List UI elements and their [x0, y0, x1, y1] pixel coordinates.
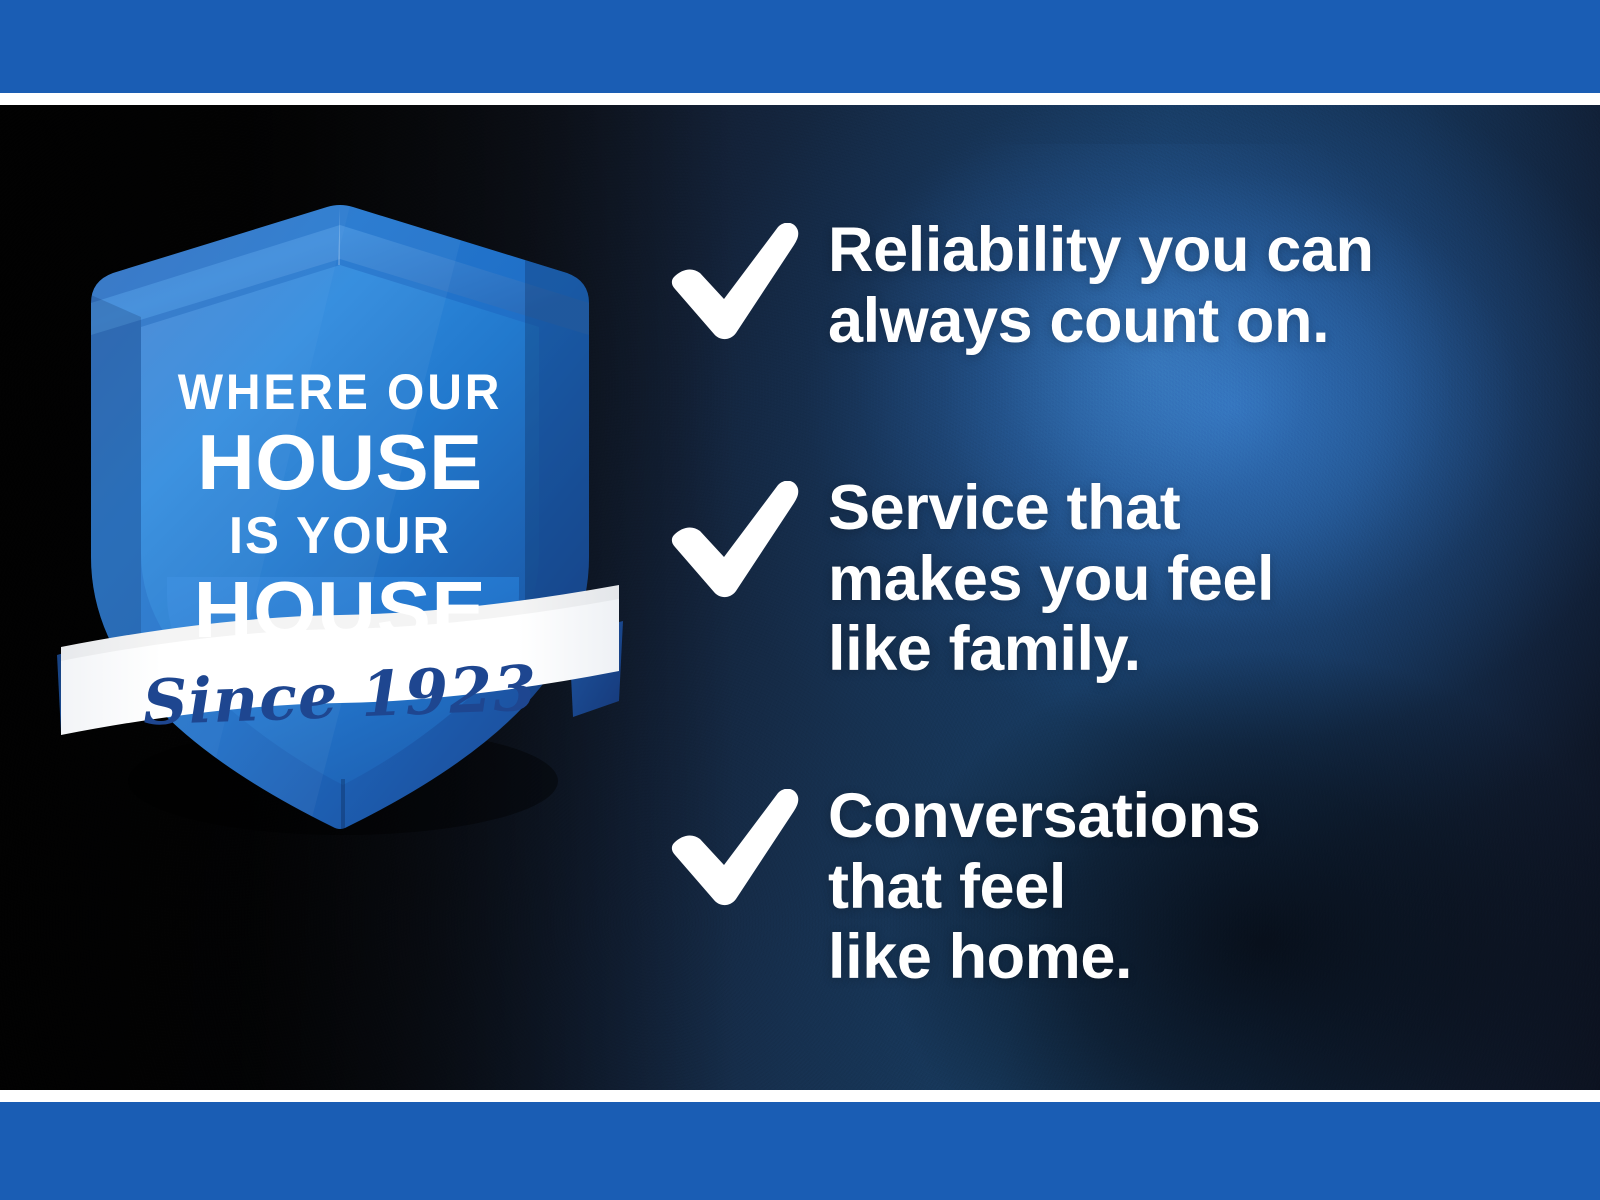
- benefit-item-2: Service that makes you feel like family.: [668, 473, 1548, 685]
- benefit-item-3: Conversations that feel like home.: [668, 781, 1548, 993]
- checkmark-icon: [668, 223, 800, 341]
- benefit-text-1: Reliability you can always count on.: [828, 215, 1548, 356]
- benefit-item-1: Reliability you can always count on.: [668, 215, 1548, 356]
- top-brand-bar: [0, 0, 1600, 93]
- bottom-brand-bar: [0, 1102, 1600, 1200]
- benefit-text-2: Service that makes you feel like family.: [828, 473, 1548, 685]
- checkmark-icon: [668, 481, 800, 599]
- top-divider-stripe: [0, 93, 1600, 105]
- shield-point-crease: [341, 779, 345, 831]
- shield-badge: WHERE OUR HOUSE IS YOUR HOUSE Since 1923: [55, 185, 625, 845]
- benefit-text-3: Conversations that feel like home.: [828, 781, 1548, 993]
- checkmark-icon: [668, 789, 800, 907]
- bottom-divider-stripe: [0, 1090, 1600, 1102]
- promo-graphic: WHERE OUR HOUSE IS YOUR HOUSE Since 1923…: [0, 0, 1600, 1200]
- benefits-list: Reliability you can always count on. Ser…: [668, 105, 1548, 1090]
